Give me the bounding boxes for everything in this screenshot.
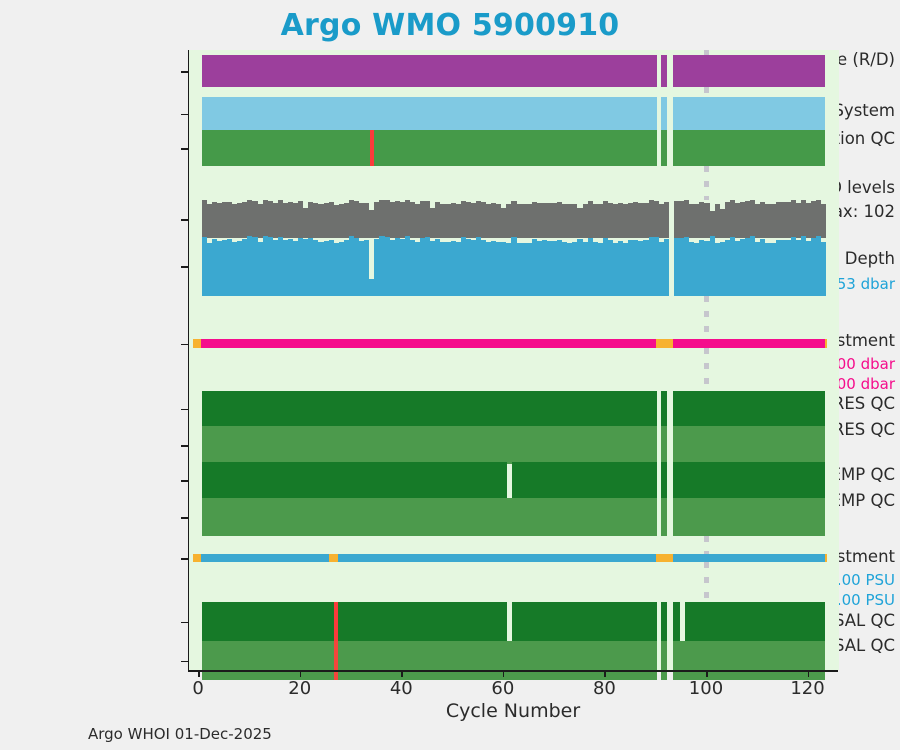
band-position-qc	[673, 130, 825, 166]
band-profile-psal-qc	[685, 602, 825, 641]
cycle-100-reference-line-segment	[704, 562, 709, 602]
chart-plot-area	[188, 50, 839, 670]
x-tick-label: 100	[689, 678, 723, 699]
cycle-100-reference-line-segment	[704, 536, 709, 554]
x-axis-line	[188, 670, 838, 672]
qc-flag-mode-of-psal-qc	[334, 641, 338, 680]
band-mode-of-pres-qc	[661, 426, 667, 464]
bar-number-ctd-levels	[821, 204, 826, 238]
footer-credit: Argo WHOI 01-Dec-2025	[88, 725, 272, 743]
band-profile-psal-qc	[202, 602, 507, 641]
band-profile-pres-qc	[673, 391, 825, 426]
band-mode-of-psal-qc	[202, 641, 656, 680]
bar-number-ctd-levels	[664, 202, 669, 238]
band-mode-of-temp-qc	[202, 498, 656, 536]
y-tick	[181, 219, 188, 221]
y-tick	[181, 344, 188, 346]
x-tick-label: 120	[790, 678, 824, 699]
x-tick-label: 80	[593, 678, 616, 699]
band-profile-pres-qc	[661, 391, 667, 426]
x-tick	[706, 670, 708, 677]
y-tick	[181, 114, 188, 116]
x-axis-title: Cycle Number	[188, 700, 838, 722]
x-tick-label: 20	[288, 678, 311, 699]
band-mode-of-psal-qc	[673, 641, 825, 680]
cycle-100-reference-line-segment	[704, 296, 709, 339]
y-tick	[181, 622, 188, 624]
band-profile-psal-qc	[661, 602, 667, 641]
bar-profile-depth	[821, 242, 826, 296]
band-profile-pres-qc	[202, 391, 656, 426]
y-tick	[181, 148, 188, 150]
adjustment-line-pres-adjustment	[673, 339, 825, 348]
band-date-type	[202, 55, 656, 87]
adjustment-line-psal-adjustment	[673, 554, 825, 562]
y-tick	[181, 517, 188, 519]
band-positioning-system	[673, 97, 825, 130]
y-tick	[181, 266, 188, 268]
y-tick	[181, 558, 188, 560]
x-tick	[198, 670, 200, 677]
band-mode-of-temp-qc	[661, 498, 667, 536]
cycle-100-reference-line-segment	[704, 50, 709, 55]
cycle-100-reference-line-segment	[704, 348, 709, 391]
band-positioning-system	[661, 97, 667, 130]
qc-flag-position-qc	[370, 130, 374, 166]
band-position-qc	[661, 130, 667, 166]
x-tick	[401, 670, 403, 677]
cycle-100-reference-line-segment	[704, 166, 709, 200]
x-tick-label: 40	[390, 678, 413, 699]
band-profile-temp-qc	[661, 462, 667, 498]
band-mode-of-psal-qc	[661, 641, 667, 680]
band-date-type	[661, 55, 667, 87]
adjustment-line-pres-adjustment	[201, 339, 655, 348]
band-profile-psal-qc	[512, 602, 657, 641]
qc-flag-profile-psal-qc	[334, 602, 338, 641]
y-tick	[181, 71, 188, 73]
x-tick-label: 60	[491, 678, 514, 699]
page-title: Argo WMO 5900910	[0, 8, 900, 43]
band-date-type	[673, 55, 825, 87]
x-tick	[604, 670, 606, 677]
bar-profile-depth	[664, 239, 669, 296]
x-tick	[808, 670, 810, 677]
cycle-100-reference-line-segment	[704, 87, 709, 97]
band-profile-psal-qc	[673, 602, 679, 641]
y-tick	[181, 480, 188, 482]
band-profile-temp-qc	[673, 462, 825, 498]
y-tick	[181, 661, 188, 663]
adjustment-line-psal-adjustment	[338, 554, 655, 562]
band-mode-of-temp-qc	[673, 498, 825, 536]
band-mode-of-pres-qc	[202, 426, 656, 464]
band-profile-temp-qc	[202, 462, 507, 498]
band-positioning-system	[202, 97, 656, 130]
band-position-qc	[202, 130, 656, 166]
adjustment-line-psal-adjustment	[201, 554, 329, 562]
band-profile-temp-qc	[512, 462, 657, 498]
y-tick	[181, 445, 188, 447]
y-tick	[181, 409, 188, 411]
x-tick	[503, 670, 505, 677]
x-tick-label: 0	[192, 678, 203, 699]
band-mode-of-pres-qc	[673, 426, 825, 464]
x-tick	[300, 670, 302, 677]
